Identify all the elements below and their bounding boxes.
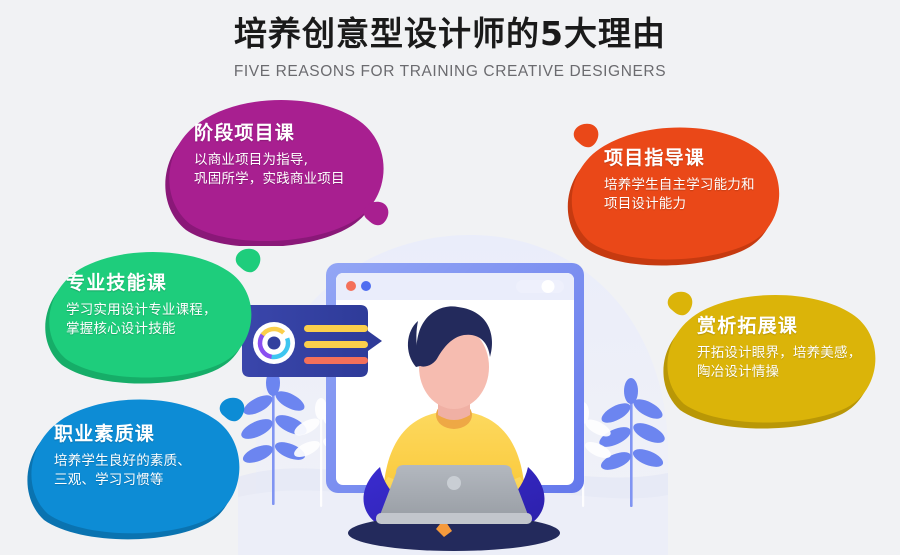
bubble-text: 项目指导课 培养学生自主学习能力和 项目设计能力 [604, 148, 755, 215]
bubble-title: 职业素质课 [54, 424, 191, 445]
bubble-professional-skills-course[interactable]: 专业技能课 学习实用设计专业课程， 掌握核心设计技能 [36, 245, 272, 385]
bubble-text: 阶段项目课 以商业项目为指导, 巩固所学，实践商业项目 [194, 123, 345, 190]
bubble-stage-project-course[interactable]: 阶段项目课 以商业项目为指导, 巩固所学，实践商业项目 [152, 96, 404, 246]
header: 培养创意型设计师的5大理由 FIVE REASONS FOR TRAINING … [0, 0, 900, 81]
browser-dot-blue [361, 281, 371, 291]
bubble-splash-dot [574, 124, 599, 148]
bubble-description: 培养学生自主学习能力和 项目设计能力 [604, 176, 755, 215]
bubble-title: 专业技能课 [66, 273, 217, 294]
bubble-text: 专业技能课 学习实用设计专业课程， 掌握核心设计技能 [66, 273, 217, 340]
bubble-title: 项目指导课 [604, 148, 755, 169]
bubble-splash-dot [668, 292, 693, 316]
bubble-description: 开拓设计眼界，培养美感， 陶冶设计情操 [697, 344, 861, 383]
bubble-splash-dot [236, 249, 261, 273]
infographic-canvas: 培养创意型设计师的5大理由 FIVE REASONS FOR TRAINING … [0, 0, 900, 555]
bubble-appreciation-expansion-course[interactable]: 赏析拓展课 开拓设计眼界，培养美感， 陶冶设计情操 [652, 288, 897, 430]
bubble-professional-quality-course[interactable]: 职业素质课 培养学生良好的素质、 三观、学习习惯等 [16, 392, 256, 540]
bubble-description: 培养学生良好的素质、 三观、学习习惯等 [54, 452, 191, 491]
bubble-title: 赏析拓展课 [697, 316, 861, 337]
bubble-description: 以商业项目为指导, 巩固所学，实践商业项目 [194, 151, 345, 190]
bubble-splash-dot [364, 202, 389, 226]
bubble-project-guidance-course[interactable]: 项目指导课 培养学生自主学习能力和 项目设计能力 [556, 122, 796, 267]
bubble-text: 职业素质课 培养学生良好的素质、 三观、学习习惯等 [54, 424, 191, 491]
bubble-title: 阶段项目课 [194, 123, 345, 144]
page-subtitle: FIVE REASONS FOR TRAINING CREATIVE DESIG… [0, 54, 900, 81]
bubble-splash-dot [220, 398, 245, 422]
laptop-icon [376, 465, 532, 524]
browser-dot-red [346, 281, 356, 291]
bubble-text: 赏析拓展课 开拓设计眼界，培养美感， 陶冶设计情操 [697, 316, 861, 383]
page-title: 培养创意型设计师的5大理由 [0, 0, 900, 54]
bubble-description: 学习实用设计专业课程， 掌握核心设计技能 [66, 301, 217, 340]
